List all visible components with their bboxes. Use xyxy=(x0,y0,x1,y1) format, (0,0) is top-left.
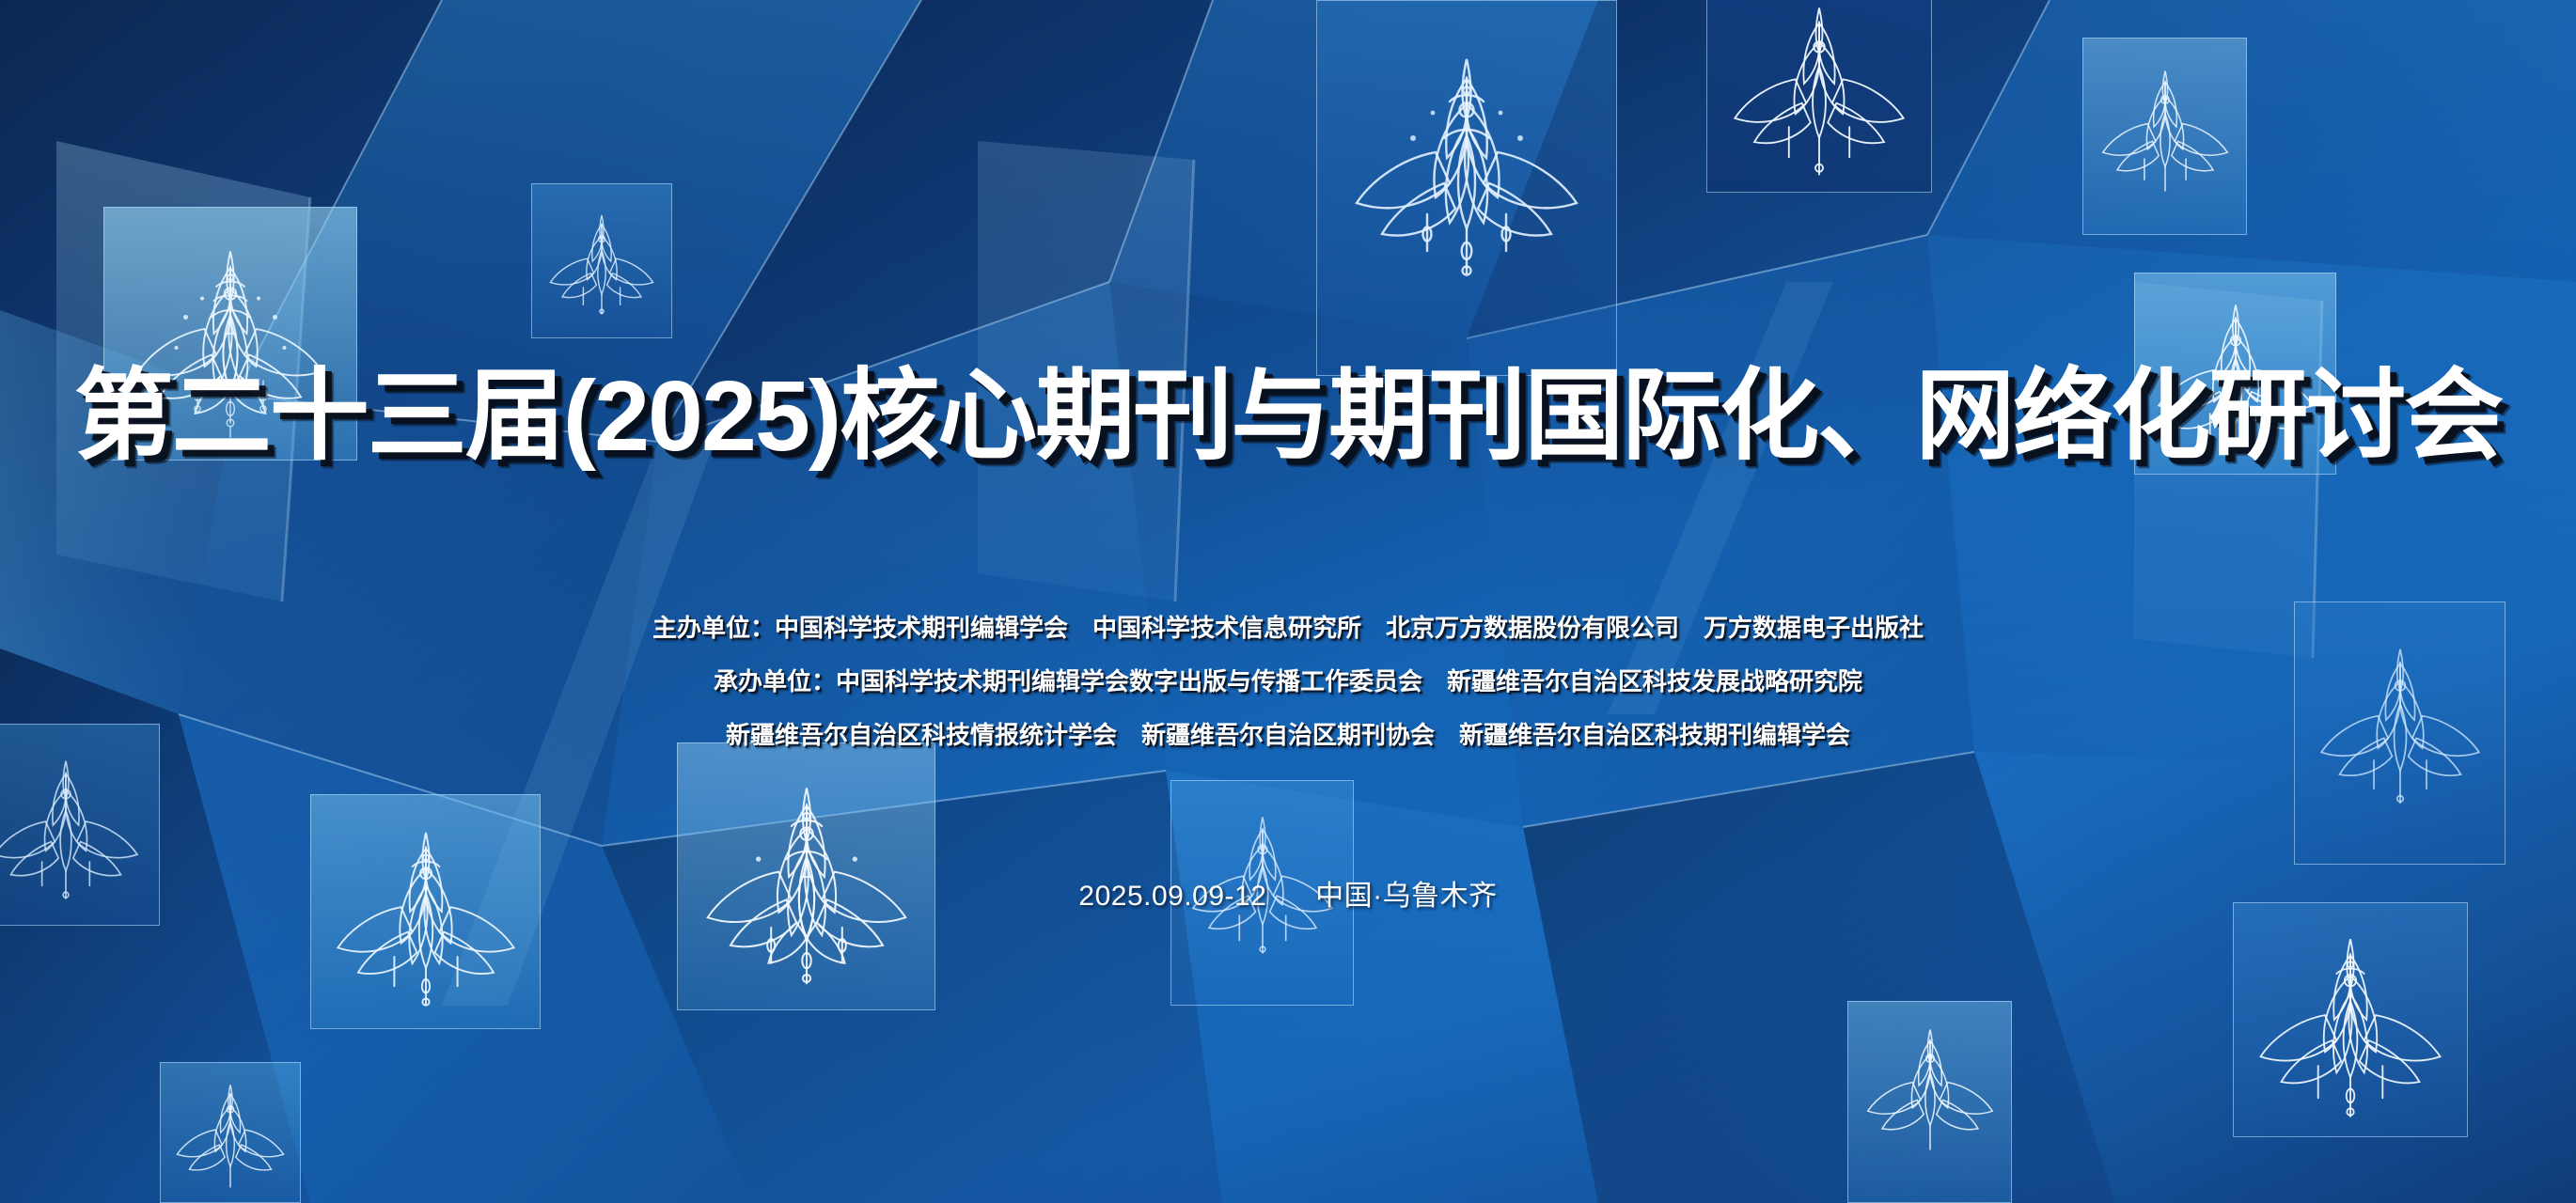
organizer-line-coorganizer-cont: 新疆维吾尔自治区科技情报统计学会 新疆维吾尔自治区期刊协会 新疆维吾尔自治区科技… xyxy=(0,723,2576,747)
date-location-bar: 2025.09.09-12 中国·乌鲁木齐 xyxy=(0,872,2576,914)
event-date: 2025.09.09-12 xyxy=(1078,881,1266,912)
event-location: 中国·乌鲁木齐 xyxy=(1315,881,1498,912)
page-title: 第二十三届(2025)核心期刊与期刊国际化、网络化研讨会 xyxy=(0,367,2576,466)
banner-content: 第二十三届(2025)核心期刊与期刊国际化、网络化研讨会 主办单位：中国科学技术… xyxy=(0,0,2576,1203)
organizer-line-coorganizer: 承办单位：中国科学技术期刊编辑学会数字出版与传播工作委员会 新疆维吾尔自治区科技… xyxy=(0,669,2576,694)
conference-banner: 第二十三届(2025)核心期刊与期刊国际化、网络化研讨会 主办单位：中国科学技术… xyxy=(0,0,2576,1203)
organizer-line-host: 主办单位：中国科学技术期刊编辑学会 中国科学技术信息研究所 北京万方数据股份有限… xyxy=(0,616,2576,640)
organizer-block: 主办单位：中国科学技术期刊编辑学会 中国科学技术信息研究所 北京万方数据股份有限… xyxy=(0,616,2576,776)
